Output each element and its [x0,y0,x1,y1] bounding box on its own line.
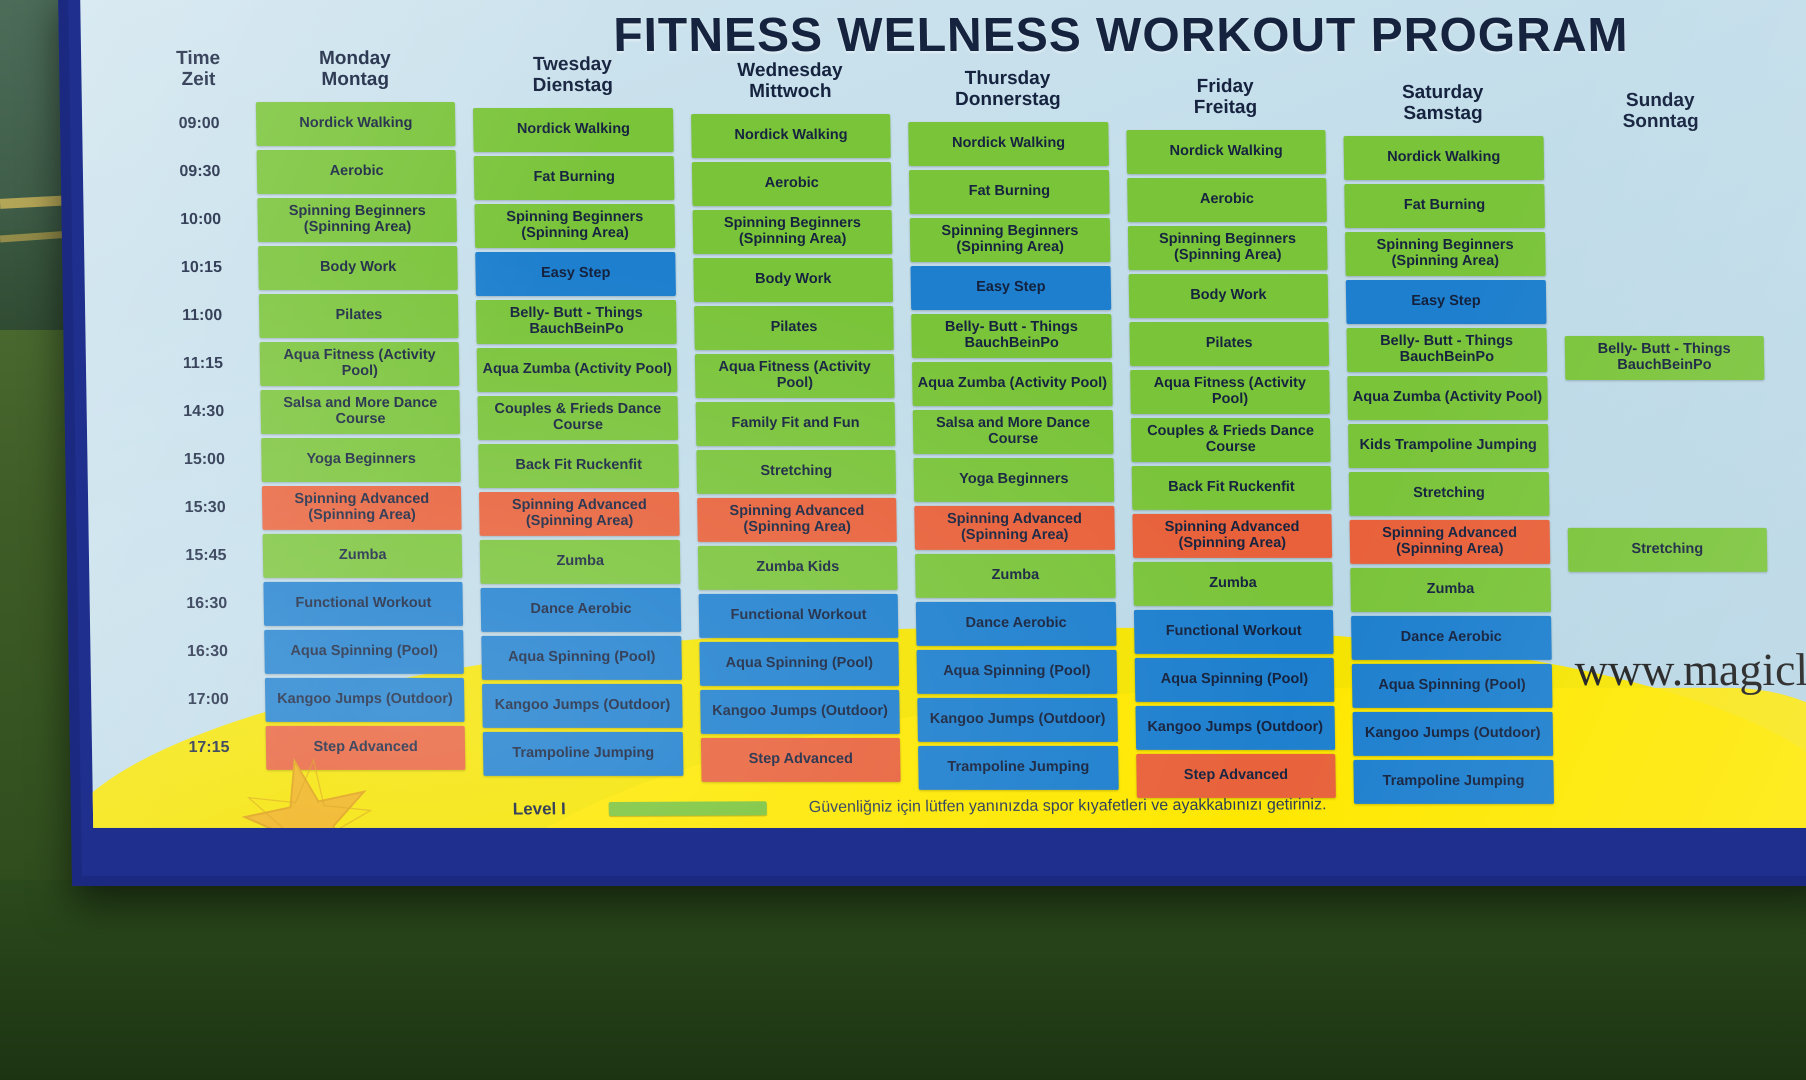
day-column-monday: MondayMontagNordick WalkingAerobicSpinni… [255,48,466,774]
schedule-cell[interactable]: Functional Workout [1134,610,1334,654]
schedule-cell[interactable]: Nordick Walking [1344,136,1544,180]
schedule-cell-empty [1565,384,1765,428]
schedule-cell-empty [1566,432,1766,476]
schedule-cell[interactable]: Step Advanced [701,738,901,782]
schedule-cell[interactable]: Back Fit Ruckenfit [1131,466,1331,510]
time-label: 10:00 [161,198,240,242]
schedule-cell[interactable]: Zumba [480,540,680,584]
day-header: MondayMontag [255,48,455,102]
schedule-cell[interactable]: Back Fit Ruckenfit [479,444,679,488]
schedule-cell[interactable]: Easy Step [476,252,676,296]
day-name-de: Donnerstag [908,89,1108,110]
schedule-cell[interactable]: Yoga Beginners [261,438,461,482]
schedule-cell[interactable]: Fat Burning [909,170,1109,214]
schedule-cell-empty [1563,240,1763,284]
board-face: FITNESS WELNESS WORKOUT PROGRAM TimeZeit… [80,0,1806,828]
legend-color-swatch [609,801,767,816]
day-name-de: Mittwoch [690,81,890,102]
schedule-cell[interactable]: Aqua Spinning (Pool) [482,636,682,680]
schedule-cell[interactable]: Spinning Advanced (Spinning Area) [1132,514,1332,558]
day-column-friday: FridayFreitagNordick WalkingAerobicSpinn… [1125,76,1336,802]
schedule-cell[interactable]: Spinning Beginners (Spinning Area) [692,210,892,254]
day-name-de: Samstag [1343,103,1543,124]
schedule-cell-empty [1570,720,1770,764]
day-column-wednesday: WednesdayMittwochNordick WalkingAerobicS… [690,60,901,786]
time-label: 09:00 [160,102,239,146]
schedule-cell[interactable]: Salsa and More Dance Course [913,410,1113,454]
schedule-cell[interactable]: Spinning Advanced (Spinning Area) [697,498,897,542]
time-column: TimeZeit09:0009:3010:0010:1511:0011:1514… [159,48,248,774]
photo-scene: FITNESS WELNESS WORKOUT PROGRAM TimeZeit… [0,0,1806,1080]
time-label: 15:45 [167,534,246,578]
schedule-cell[interactable]: Belly- Butt - Things BauchBeinPo [1564,336,1764,380]
day-header: WednesdayMittwoch [690,60,890,114]
schedule-cell[interactable]: Spinning Beginners (Spinning Area) [1345,232,1545,276]
time-label: 15:30 [166,486,245,530]
schedule-cell[interactable]: Kids Trampoline Jumping [1348,424,1548,468]
time-header-en: Time [159,48,237,69]
day-header: SundaySonntag [1560,90,1760,144]
schedule-cell[interactable]: Spinning Advanced (Spinning Area) [915,506,1115,550]
schedule-cell[interactable]: Aqua Spinning (Pool) [1352,664,1552,708]
time-label: 09:30 [161,150,240,194]
schedule-cell[interactable]: Body Work [693,258,893,302]
schedule-cell[interactable]: Dance Aerobic [1351,616,1551,660]
time-column-header: TimeZeit [159,48,238,102]
schedule-cell-empty [1562,192,1762,236]
schedule-cell[interactable]: Aqua Fitness (Activity Pool) [260,342,460,386]
schedule-board: FITNESS WELNESS WORKOUT PROGRAM TimeZeit… [58,0,1806,886]
schedule-cell[interactable]: Belly- Butt - Things BauchBeinPo [912,314,1112,358]
day-column-sunday: SundaySonntagBelly- Butt - Things BauchB… [1560,90,1771,816]
schedule-cell[interactable]: Aqua Spinning (Pool) [264,630,464,674]
time-label: 11:00 [163,294,242,338]
schedule-cell[interactable]: Kangoo Jumps (Outdoor) [918,698,1118,742]
website-url: www.magicli [1574,643,1806,696]
day-name-de: Freitag [1126,97,1326,118]
day-column-saturday: SaturdaySamstagNordick WalkingFat Burnin… [1343,82,1554,808]
day-name-en: Thursday [908,68,1108,89]
safety-note: Güvenliğniz için lütfen yanınızda spor k… [809,796,1327,817]
time-label: 14:30 [164,390,243,434]
schedule-cell[interactable]: Nordick Walking [909,122,1109,166]
schedule-cell[interactable]: Aqua Spinning (Pool) [699,642,899,686]
schedule-cell[interactable]: Salsa and More Dance Course [260,390,460,434]
day-name-de: Montag [255,69,455,90]
schedule-cell-empty [1568,576,1768,620]
schedule-cell[interactable]: Functional Workout [698,594,898,638]
schedule-cell[interactable]: Family Fit and Fun [695,402,895,446]
schedule-cell[interactable]: Kangoo Jumps (Outdoor) [1353,712,1553,756]
schedule-cell[interactable]: Easy Step [1346,280,1546,324]
legend-level-label: Level I [513,799,609,819]
schedule-cell[interactable]: Fat Burning [1344,184,1544,228]
schedule-cell[interactable]: Aqua Fitness (Activity Pool) [695,354,895,398]
schedule-cell[interactable]: Nordick Walking [473,108,673,152]
day-name-en: Monday [255,48,455,69]
schedule-cell[interactable]: Spinning Beginners (Spinning Area) [910,218,1110,262]
schedule-cell[interactable]: Trampoline Jumping [918,746,1118,790]
schedule-cell[interactable]: Aqua Zumba (Activity Pool) [1347,376,1547,420]
day-header: ThursdayDonnerstag [908,68,1108,122]
schedule-cell[interactable]: Yoga Beginners [914,458,1114,502]
day-name-en: Wednesday [690,60,890,81]
day-name-en: Sunday [1560,90,1760,111]
schedule-cell[interactable]: Fat Burning [474,156,674,200]
schedule-cell[interactable]: Aerobic [257,150,457,194]
schedule-cell[interactable]: Aqua Spinning (Pool) [1134,658,1334,702]
schedule-cell[interactable]: Aerobic [692,162,892,206]
schedule-cell[interactable]: Nordick Walking [256,102,456,146]
schedule-cell[interactable]: Spinning Beginners (Spinning Area) [475,204,675,248]
schedule-grid: TimeZeit09:0009:3010:0010:1511:0011:1514… [159,48,1771,774]
schedule-cell[interactable]: Zumba Kids [698,546,898,590]
schedule-cell-empty [1561,144,1761,188]
schedule-cell[interactable]: Nordick Walking [1126,130,1326,174]
schedule-cell[interactable]: Aqua Zumba (Activity Pool) [912,362,1112,406]
schedule-cell[interactable]: Belly- Butt - Things BauchBeinPo [1347,328,1547,372]
day-column-thursday: ThursdayDonnerstagNordick WalkingFat Bur… [908,68,1119,794]
schedule-cell[interactable]: Dance Aerobic [916,602,1116,646]
schedule-cell[interactable]: Belly- Butt - Things BauchBeinPo [476,300,676,344]
schedule-cell[interactable]: Nordick Walking [691,114,891,158]
day-name-de: Dienstag [473,75,673,96]
day-name-en: Saturday [1343,82,1543,103]
schedule-cell[interactable]: Stretching [696,450,896,494]
schedule-cell[interactable]: Stretching [1567,528,1767,572]
schedule-cell[interactable]: Zumba [263,534,463,578]
schedule-cell-empty [1563,288,1763,332]
schedule-cell[interactable]: Spinning Beginners (Spinning Area) [1128,226,1328,270]
day-header: SaturdaySamstag [1343,82,1543,136]
schedule-cell[interactable]: Pilates [259,294,459,338]
schedule-cell[interactable]: Aqua Spinning (Pool) [917,650,1117,694]
schedule-cell[interactable]: Spinning Beginners (Spinning Area) [257,198,457,242]
schedule-cell[interactable]: Couples & Frieds Dance Course [1131,418,1331,462]
schedule-cell[interactable]: Body Work [1128,274,1328,318]
schedule-cell[interactable]: Kangoo Jumps (Outdoor) [1135,706,1335,750]
time-label: 15:00 [165,438,244,482]
time-label: 17:15 [170,726,249,770]
day-name-en: Twesday [473,54,673,75]
schedule-cell[interactable]: Kangoo Jumps (Outdoor) [265,678,465,722]
schedule-cell[interactable]: Pilates [694,306,894,350]
background-grass-shadow [0,880,1806,1080]
schedule-cell[interactable]: Zumba [915,554,1115,598]
legend-row: Level IGüvenliğniz için lütfen yanınızda… [512,788,1513,825]
schedule-cell[interactable]: Trampoline Jumping [483,732,683,776]
schedule-cell-empty [1571,768,1771,812]
day-header: FridayFreitag [1125,76,1325,130]
schedule-cell[interactable]: Kangoo Jumps (Outdoor) [482,684,682,728]
schedule-cell[interactable]: Stretching [1349,472,1549,516]
time-label: 11:15 [164,342,243,386]
schedule-cell[interactable]: Functional Workout [263,582,463,626]
schedule-cell[interactable]: Pilates [1129,322,1329,366]
schedule-cell[interactable]: Body Work [258,246,458,290]
schedule-cell-empty [1567,480,1767,524]
schedule-cell[interactable]: Aerobic [1127,178,1327,222]
schedule-cell[interactable]: Easy Step [911,266,1111,310]
day-name-en: Friday [1125,76,1325,97]
schedule-cell[interactable]: Aqua Fitness (Activity Pool) [1130,370,1330,414]
time-label: 10:15 [162,246,241,290]
time-label: 16:30 [168,630,247,674]
day-header: TwesdayDienstag [473,54,673,108]
schedule-cell[interactable]: Kangoo Jumps (Outdoor) [700,690,900,734]
schedule-cell[interactable]: Spinning Advanced (Spinning Area) [262,486,462,530]
legend: Level IGüvenliğniz için lütfen yanınızda… [512,788,1514,828]
schedule-cell[interactable]: Spinning Advanced (Spinning Area) [479,492,679,536]
schedule-cell[interactable]: Spinning Advanced (Spinning Area) [1350,520,1550,564]
schedule-cell[interactable]: Aqua Zumba (Activity Pool) [477,348,677,392]
day-column-twesday: TwesdayDienstagNordick WalkingFat Burnin… [473,54,684,780]
schedule-cell[interactable]: Dance Aerobic [481,588,681,632]
time-label: 16:30 [167,582,246,626]
schedule-cell[interactable]: Zumba [1133,562,1333,606]
time-label: 17:00 [169,678,248,722]
time-header-de: Zeit [159,69,237,90]
day-name-de: Sonntag [1561,111,1761,132]
schedule-cell[interactable]: Zumba [1350,568,1550,612]
schedule-cell[interactable]: Couples & Frieds Dance Course [478,396,678,440]
